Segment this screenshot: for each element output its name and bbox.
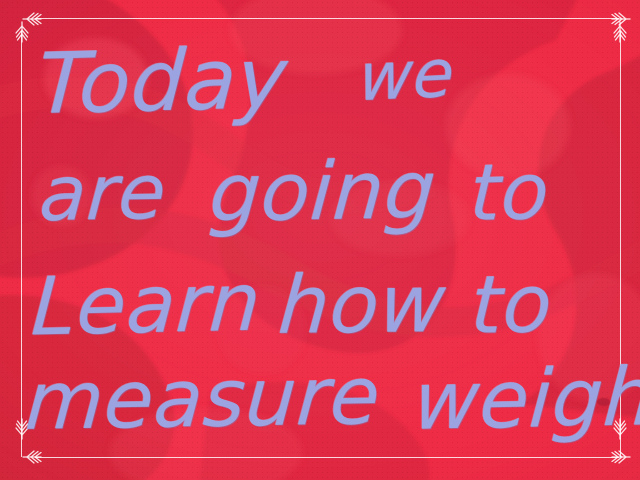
- message-word: to: [469, 257, 555, 352]
- message-word: Today: [35, 29, 290, 133]
- message-word: how: [275, 257, 449, 352]
- message-line-1: Todaywe: [38, 32, 455, 130]
- message-word: measure: [23, 349, 384, 448]
- slide-message: Todaywe aregoingto Learnhowto measurewei…: [0, 0, 640, 480]
- message-word: Learn: [29, 256, 264, 354]
- message-line-2: aregoingto: [40, 145, 549, 238]
- slide-canvas: Todaywe aregoingto Learnhowto measurewei…: [0, 0, 640, 480]
- message-line-4: measureweight.: [26, 352, 640, 445]
- message-word: to: [468, 147, 551, 239]
- faint-watermark-mark: [597, 398, 610, 406]
- message-word: going: [207, 143, 440, 239]
- message-line-3: Learnhowto: [32, 258, 553, 351]
- message-word: we: [357, 35, 457, 117]
- message-word: are: [37, 147, 169, 238]
